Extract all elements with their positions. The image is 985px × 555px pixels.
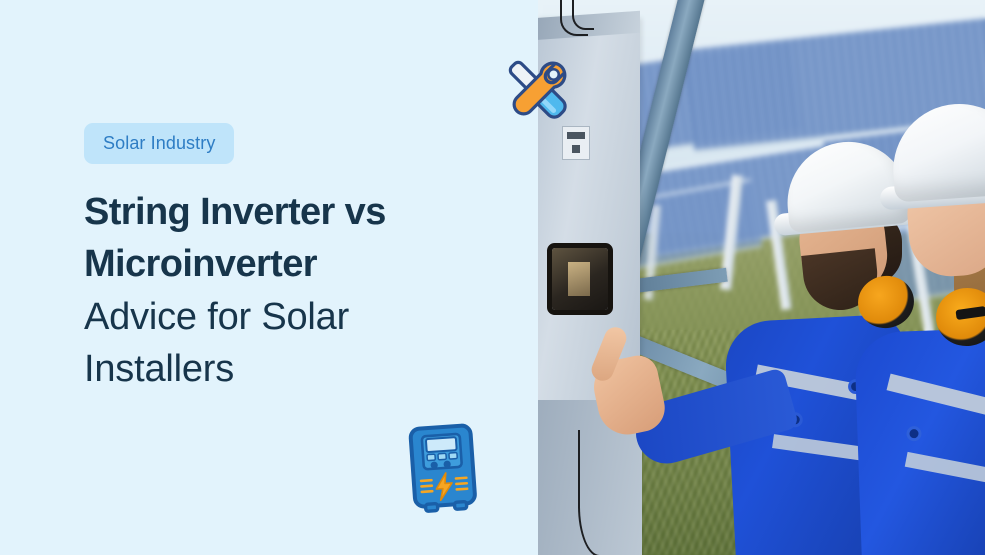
tools-icon: [501, 51, 575, 129]
inverter-cabinet-window: [552, 248, 608, 310]
hanging-cable: [572, 0, 594, 30]
uniform-reflective-stripe: [887, 374, 985, 427]
page-title-bold-line-2: Microinverter: [84, 238, 504, 290]
page-title: String Inverter vs Microinverter Advice …: [84, 186, 504, 396]
category-badge-label: Solar Industry: [103, 133, 215, 153]
inverter-cabinet-label: [562, 126, 590, 160]
page-subtitle-line-1: Advice for Solar: [84, 291, 504, 343]
hero-photo-scene: [538, 0, 985, 555]
hero-banner: Solar Industry String Inverter vs Microi…: [0, 0, 985, 555]
uniform-reflective-stripe: [905, 452, 985, 493]
page-title-bold-line-1: String Inverter vs: [84, 186, 504, 238]
inverter-icon: [407, 421, 481, 517]
page-subtitle-line-2: Installers: [84, 343, 504, 395]
hero-photo: [538, 0, 985, 555]
uniform-button: [909, 429, 918, 438]
female-technician-body: [854, 327, 985, 555]
hanging-cable: [578, 430, 614, 555]
category-badge[interactable]: Solar Industry: [84, 123, 234, 164]
